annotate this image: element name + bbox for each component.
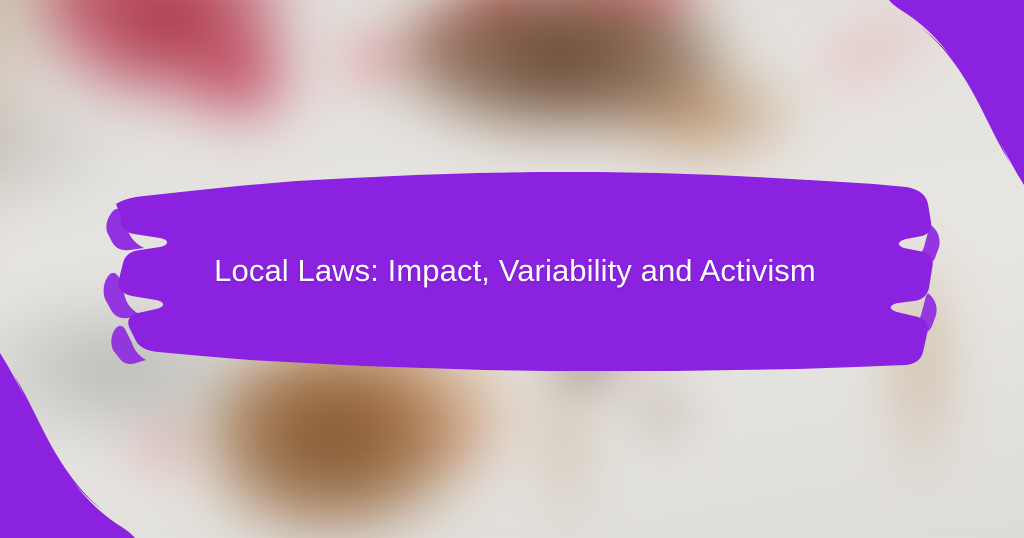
poster-canvas: Local Laws: Impact, Variability and Acti… [0,0,1024,538]
page-title: Local Laws: Impact, Variability and Acti… [86,166,944,378]
